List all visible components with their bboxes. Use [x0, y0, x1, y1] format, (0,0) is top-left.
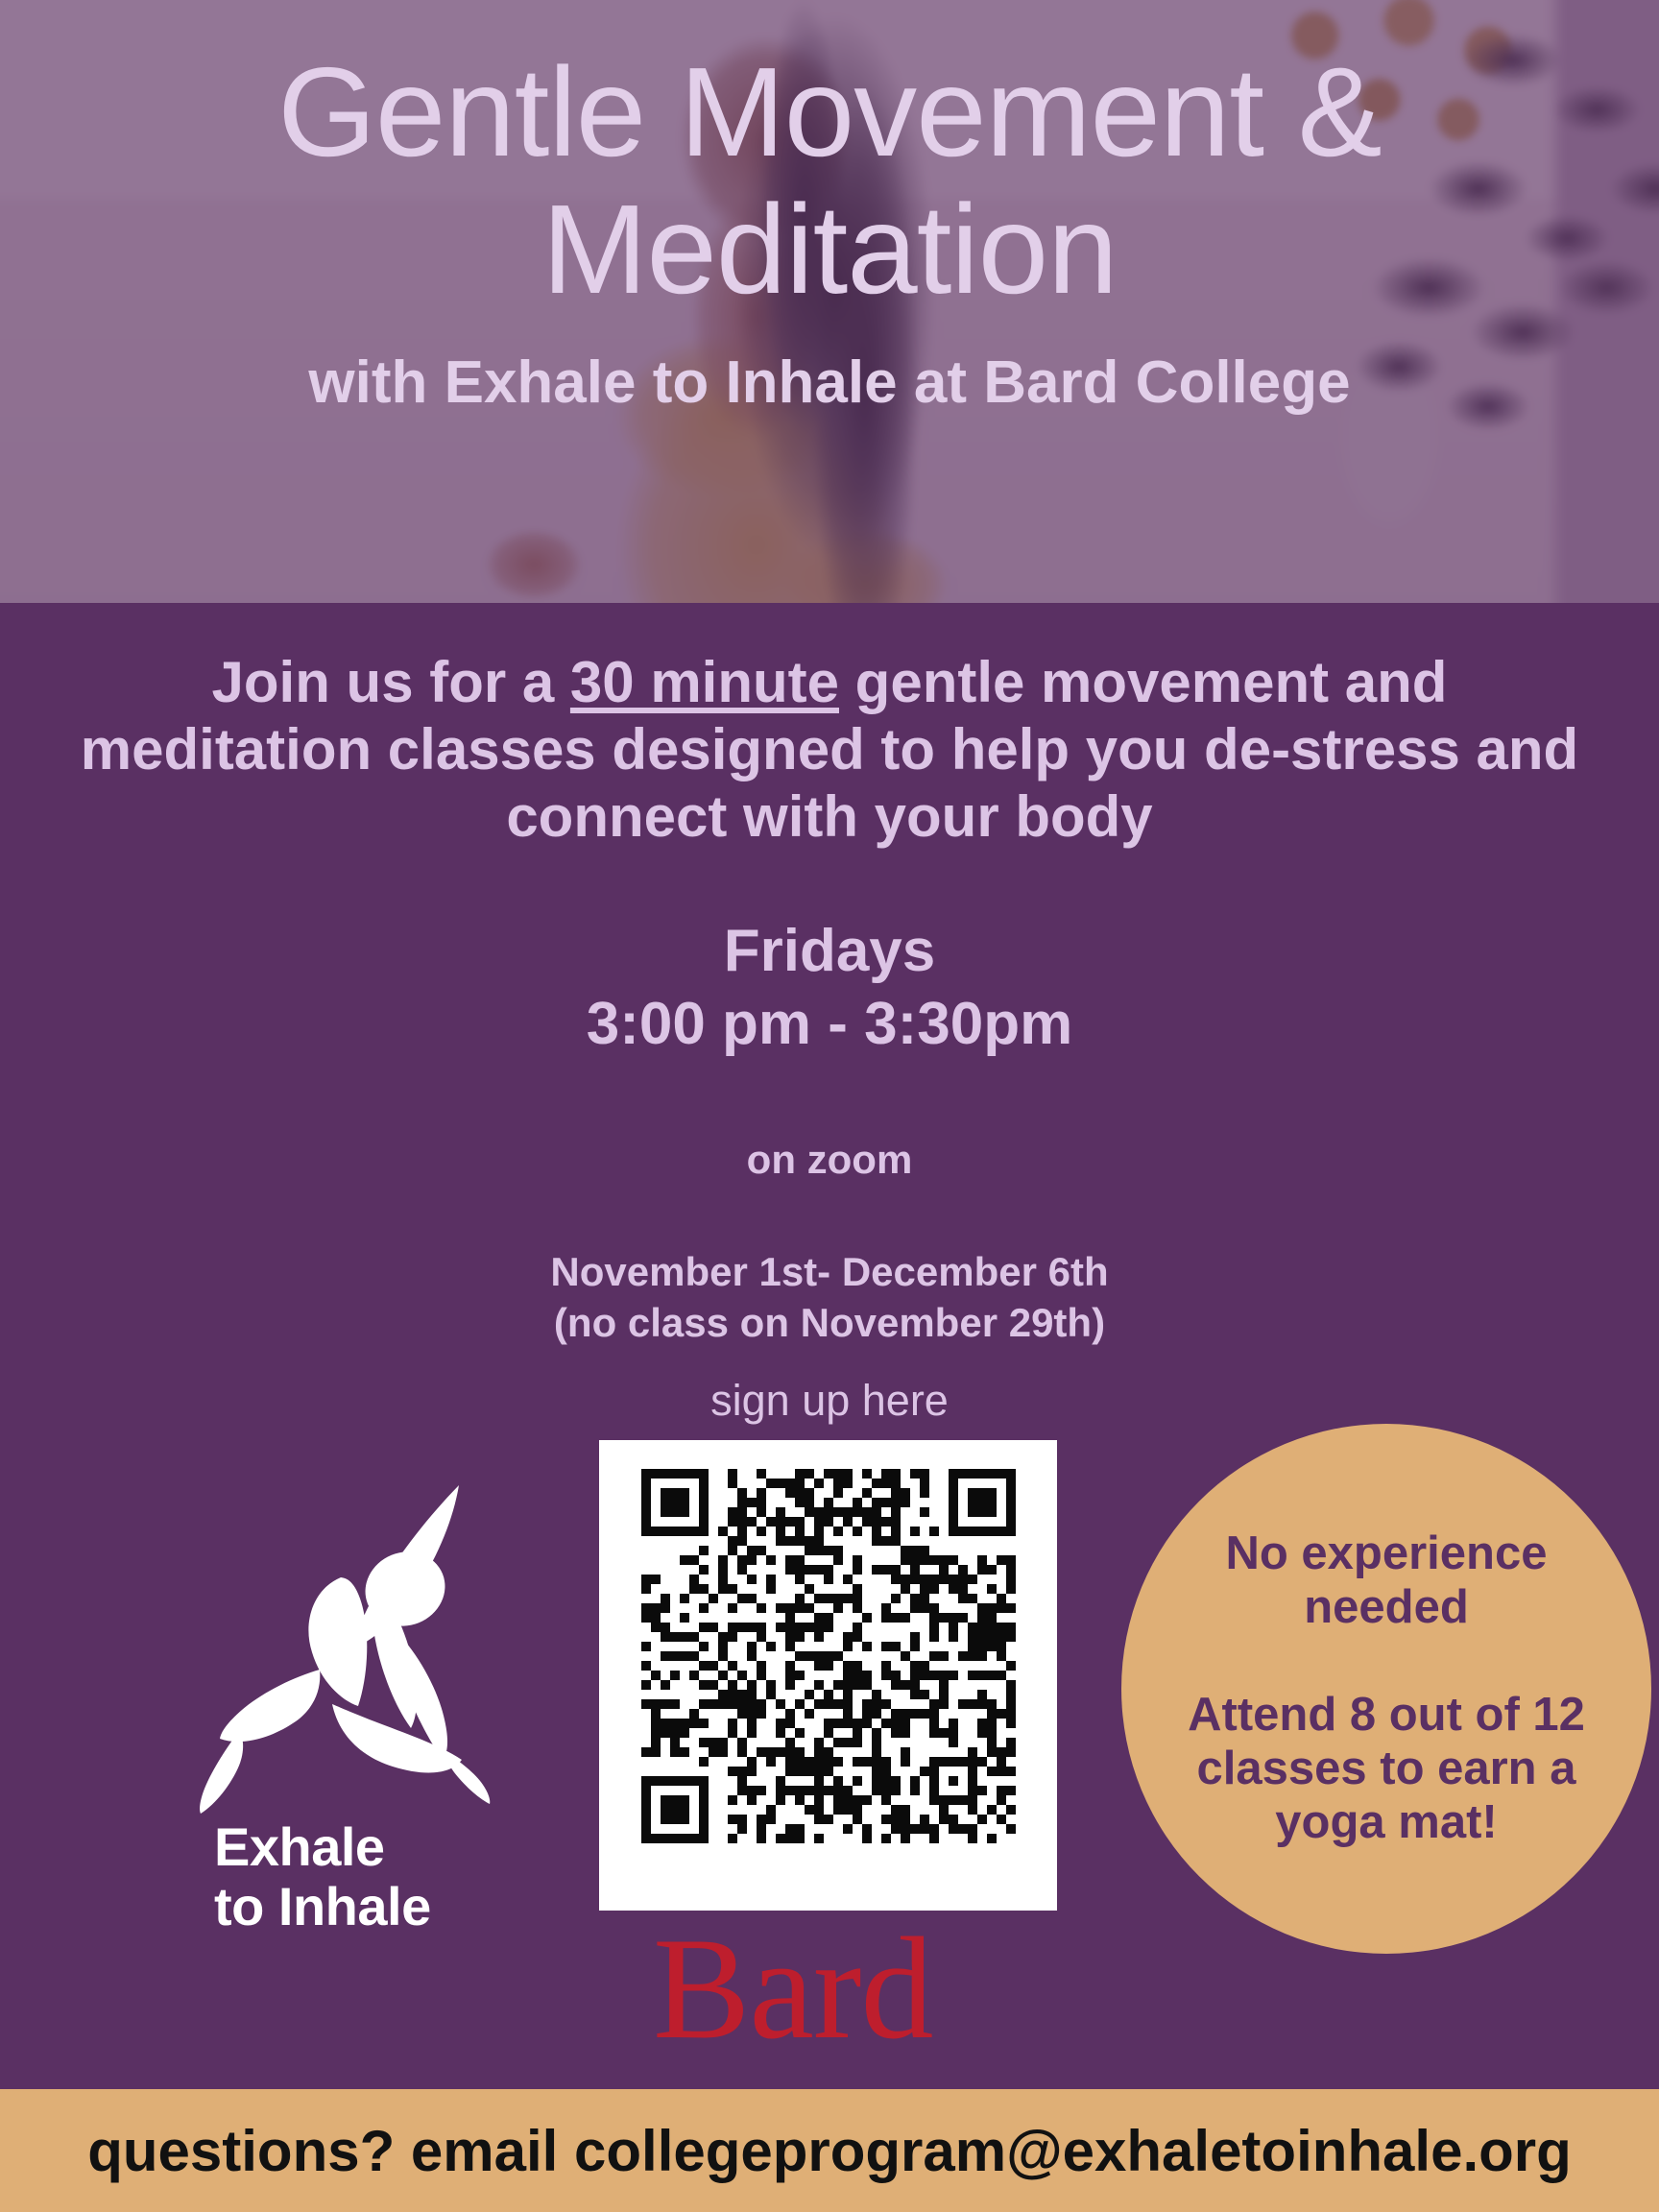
platform-label: on zoom: [0, 1137, 1659, 1183]
badge-line-2: Attend 8 out of 12 classes to earn a yog…: [1160, 1689, 1613, 1850]
page-subtitle: with Exhale to Inhale at Bard College: [0, 350, 1659, 416]
signup-label: sign up here: [0, 1376, 1659, 1426]
bard-wordmark: Bard: [653, 1915, 1056, 2061]
schedule-block: Fridays 3:00 pm - 3:30pm: [0, 915, 1659, 1060]
status-badge: No experience needed Attend 8 out of 12 …: [1121, 1424, 1651, 1954]
intro-text-underlined: 30 minute: [570, 650, 839, 714]
page-title-line-2: Meditation: [0, 181, 1659, 319]
logo-word-line-1: Exhale: [214, 1817, 542, 1877]
hero-header: Gentle Movement & Meditation with Exhale…: [0, 0, 1659, 603]
intro-text-before: Join us for a: [212, 650, 570, 714]
date-range-line-2: (no class on November 29th): [0, 1297, 1659, 1348]
exhale-to-inhale-logo: Exhale to Inhale: [187, 1464, 542, 1963]
qr-code-card[interactable]: [599, 1440, 1057, 1911]
figure-leaves-icon: [187, 1464, 542, 1819]
date-range-line-1: November 1st- December 6th: [0, 1246, 1659, 1297]
exhale-to-inhale-wordmark: Exhale to Inhale: [187, 1817, 542, 1935]
intro-paragraph: Join us for a 30 minute gentle movement …: [0, 649, 1659, 852]
page-title-line-1: Gentle Movement &: [0, 44, 1659, 181]
schedule-day: Fridays: [0, 915, 1659, 988]
footer-bar: questions? email collegeprogram@exhaleto…: [0, 2089, 1659, 2212]
date-range-block: November 1st- December 6th (no class on …: [0, 1246, 1659, 1349]
hero-text-block: Gentle Movement & Meditation with Exhale…: [0, 0, 1659, 603]
footer-contact-text: questions? email collegeprogram@exhaleto…: [87, 2118, 1572, 2184]
logo-word-line-2: to Inhale: [214, 1877, 542, 1936]
schedule-time: 3:00 pm - 3:30pm: [0, 988, 1659, 1061]
qr-code-icon[interactable]: [641, 1469, 1016, 1853]
poster-root: Gentle Movement & Meditation with Exhale…: [0, 0, 1659, 2212]
badge-line-1: No experience needed: [1160, 1527, 1613, 1635]
